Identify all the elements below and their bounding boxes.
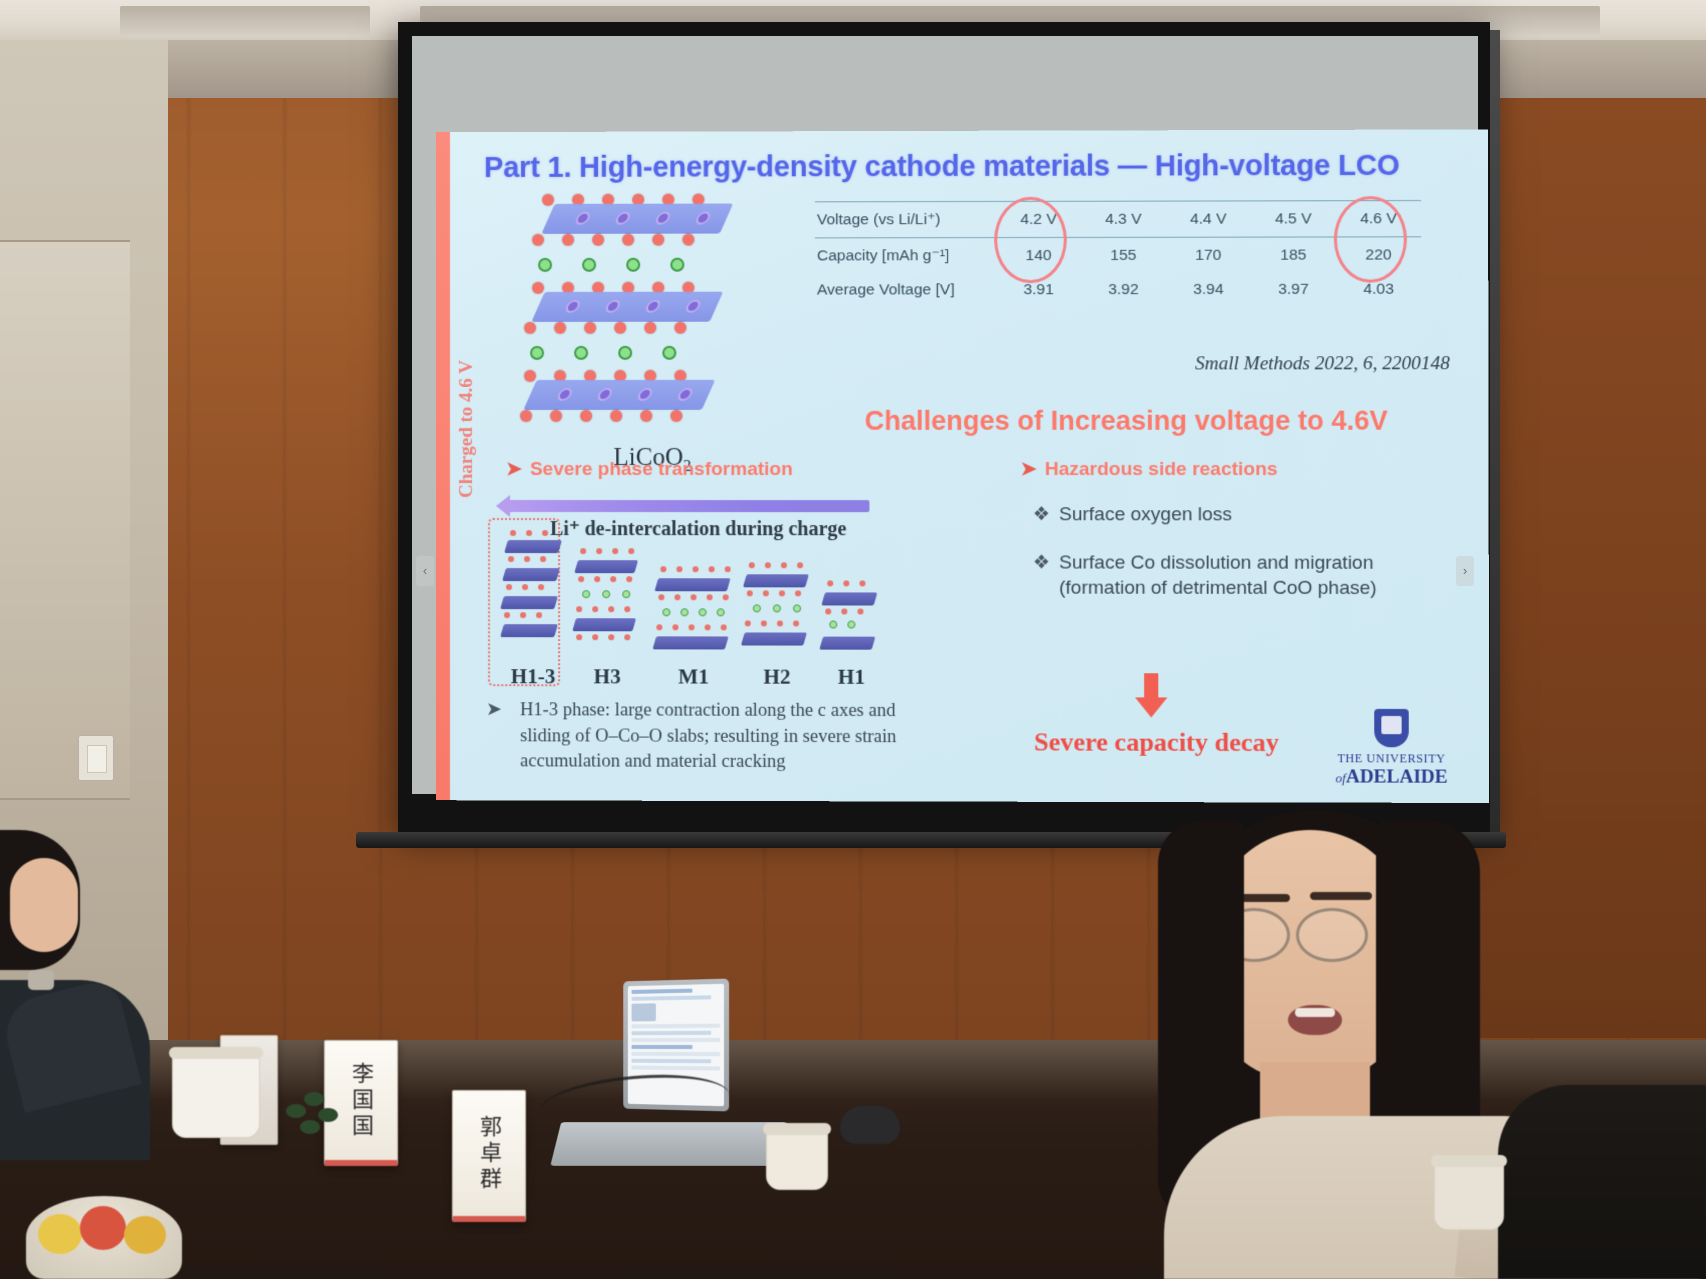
table-row-average-voltage: Average Voltage [V] 3.91 3.92 3.94 3.97 …: [815, 273, 1421, 308]
cell-avgvolt-3: 3.94: [1166, 273, 1251, 307]
phase-label-h3: H3: [574, 664, 640, 689]
name-plate: 郭卓群: [452, 1090, 526, 1222]
paper-cup: [766, 1128, 828, 1190]
charged-to-voltage-label: Charged to 4.6 V: [456, 360, 478, 498]
attendee-person-left: [0, 830, 160, 1160]
phase-evolution-diagram: H1-3 H3 M1 H2 H1: [496, 524, 837, 685]
note-line-1: H1-3 phase: large contraction along the …: [520, 698, 918, 724]
cell-voltage-2: 4.3 V: [1081, 201, 1166, 237]
presentation-slide: Part 1. High-energy-density cathode mate…: [436, 129, 1489, 803]
screen-surface: Part 1. High-energy-density cathode mate…: [412, 36, 1478, 794]
university-crest-icon: [1374, 709, 1409, 747]
logo-adelaide: ADELAIDE: [1346, 766, 1448, 787]
screen-nav-left[interactable]: ‹: [416, 556, 434, 586]
down-arrow-icon: [1140, 673, 1162, 717]
screen-nav-right[interactable]: ›: [1456, 556, 1474, 586]
cell-voltage-4: 4.5 V: [1251, 201, 1336, 237]
phase-column-m1: [654, 544, 734, 654]
cell-avgvolt-2: 3.92: [1081, 273, 1166, 307]
bullet-severe-phase-transformation: ➤Severe phase transformation: [506, 458, 793, 481]
deintercalation-arrow-icon: [508, 500, 869, 512]
plant-decoration: [286, 1090, 346, 1150]
row-label-capacity: Capacity [mAh g⁻¹]: [815, 238, 996, 274]
logo-line-2: ofADELAIDE: [1327, 766, 1457, 789]
bullet-hazardous-side-reactions: ➤Hazardous side reactions: [1021, 458, 1278, 481]
fruit: [80, 1206, 126, 1250]
h1-3-explanation-note: ➤ H1-3 phase: large contraction along th…: [486, 698, 918, 776]
cell-voltage-3: 4.4 V: [1166, 201, 1251, 237]
cell-capacity-4: 185: [1251, 237, 1336, 273]
phase-label-m1: M1: [658, 664, 728, 689]
cell-voltage-1: 4.2 V: [996, 201, 1081, 237]
fruit-bowl: [26, 1196, 182, 1279]
side-reaction-item-oxygen-loss: ❖ Surface oxygen loss: [1033, 502, 1458, 527]
cell-capacity-5: 220: [1336, 237, 1421, 273]
wristwatch: [28, 970, 54, 990]
logo-of: of: [1336, 770, 1346, 785]
paper-cup: [172, 1052, 260, 1138]
conference-room: Part 1. High-energy-density cathode mate…: [0, 0, 1706, 1279]
cell-capacity-2: 155: [1081, 237, 1166, 273]
challenges-heading: Challenges of Increasing voltage to 4.6V: [763, 406, 1489, 437]
cell-avgvolt-4: 3.97: [1251, 273, 1336, 307]
bullet-label: Hazardous side reactions: [1045, 459, 1278, 480]
side-reaction-item-co-dissolution: ❖ Surface Co dissolution and migration (…: [1033, 550, 1438, 601]
row-label-average-voltage: Average Voltage [V]: [815, 273, 996, 307]
table-row-capacity: Capacity [mAh g⁻¹] 140 155 170 185 220: [815, 237, 1421, 274]
university-logo: THE UNIVERSITY ofADELAIDE: [1327, 709, 1457, 789]
note-line-3: accumulation and material cracking: [520, 749, 918, 776]
licoo2-structure-diagram: [520, 193, 771, 442]
slide-accent-bar: [436, 132, 450, 800]
wall-panel-left-inset: [0, 240, 130, 800]
cell-voltage-5: 4.6 V: [1336, 201, 1421, 237]
cell-capacity-3: 170: [1166, 237, 1251, 273]
bullet-label: Severe phase transformation: [530, 459, 793, 480]
citation: Small Methods 2022, 6, 2200148: [1195, 353, 1450, 375]
diamond-bullet-icon: ❖: [1033, 502, 1050, 527]
slide-title: Part 1. High-energy-density cathode mate…: [484, 150, 1472, 185]
table-row-voltage: Voltage (vs Li/Li⁺) 4.2 V 4.3 V 4.4 V 4.…: [815, 201, 1421, 238]
attendee-person-right: [1498, 1085, 1706, 1279]
voltage-capacity-table: Voltage (vs Li/Li⁺) 4.2 V 4.3 V 4.4 V 4.…: [815, 200, 1421, 308]
side-reaction-label: Surface Co dissolution and migration (fo…: [1059, 550, 1438, 601]
computer-mouse[interactable]: [840, 1106, 900, 1144]
diamond-bullet-icon: ❖: [1033, 550, 1050, 575]
note-line-2: sliding of O–Co–O slabs; resulting in se…: [520, 724, 918, 750]
screen-side-rail: [1490, 30, 1500, 840]
phase-label-h1-3: H1-3: [496, 664, 570, 689]
phase-label-h1: H1: [819, 665, 883, 690]
phase-label-h2: H2: [743, 665, 811, 690]
cell-capacity-1: 140: [996, 237, 1081, 273]
name-plate-text: 李国国: [345, 1062, 377, 1140]
name-plate-text: 郭卓群: [473, 1115, 505, 1193]
logo-line-1: THE UNIVERSITY: [1327, 751, 1457, 766]
cell-avgvolt-5: 4.03: [1336, 273, 1421, 307]
arrow-bullet-icon: ➤: [486, 698, 502, 724]
arrow-bullet-icon: ➤: [1021, 459, 1037, 480]
phase-column-h1-3: [502, 524, 564, 654]
ceiling-light-slot: [120, 6, 370, 36]
phase-column-h3: [572, 534, 642, 654]
light-switch[interactable]: [78, 735, 114, 781]
paper-cup: [1434, 1160, 1504, 1230]
severe-capacity-decay-text: Severe capacity decay: [934, 727, 1379, 758]
row-label-voltage: Voltage (vs Li/Li⁺): [815, 201, 996, 237]
projection-screen: Part 1. High-energy-density cathode mate…: [398, 22, 1490, 832]
arrow-bullet-icon: ➤: [506, 459, 522, 480]
fruit: [38, 1214, 82, 1254]
cell-avgvolt-1: 3.91: [996, 273, 1081, 307]
side-reaction-label: Surface oxygen loss: [1059, 502, 1458, 527]
phase-column-h1: [821, 554, 883, 654]
phase-column-h2: [743, 544, 813, 654]
eyeglasses: [1296, 908, 1368, 962]
fruit: [124, 1216, 166, 1254]
